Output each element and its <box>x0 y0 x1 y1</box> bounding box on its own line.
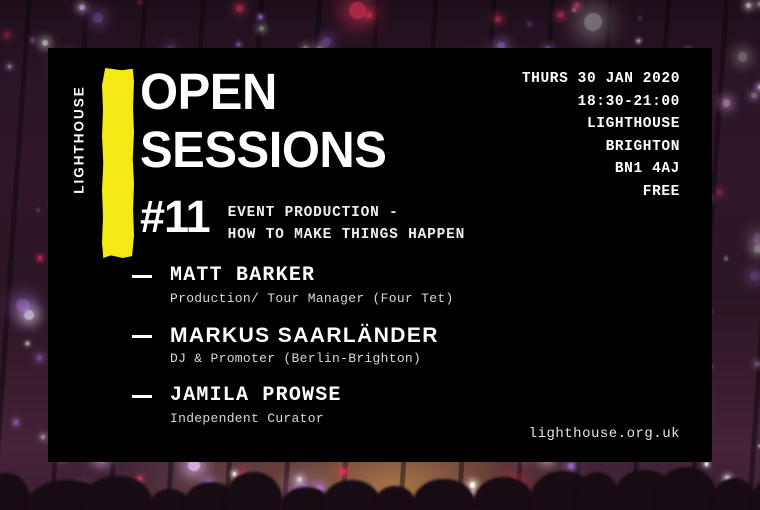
dash-bullet-icon <box>132 395 152 398</box>
speaker-role: Independent Curator <box>170 409 454 428</box>
viral-series-label: VIRAL <box>53 74 76 264</box>
speaker-role: Production/ Tour Manager (Four Tet) <box>170 289 454 308</box>
website-url[interactable]: lighthouse.org.uk <box>529 426 680 442</box>
headline-line-2: SESSIONS <box>140 121 386 179</box>
event-detail-line-2: 18:30-21:00 <box>522 91 680 114</box>
event-details: THURS 30 JAN 202018:30-21:00LIGHTHOUSEBR… <box>522 68 680 203</box>
headline-line-1: OPEN <box>140 63 386 121</box>
speaker-name: MATT BARKER <box>170 264 454 288</box>
issue-subject: EVENT PRODUCTION - HOW TO MAKE THINGS HA… <box>228 194 466 246</box>
poster-panel: LIGHTHOUSE VIRAL OPEN SESSIONS #11 EVENT… <box>48 48 712 462</box>
event-detail-line-3: LIGHTHOUSE <box>522 113 680 136</box>
event-detail-line-6: FREE <box>522 181 680 204</box>
issue-subject-line-2: HOW TO MAKE THINGS HAPPEN <box>228 224 466 246</box>
headline: OPEN SESSIONS <box>140 63 386 179</box>
poster-image: LIGHTHOUSE VIRAL OPEN SESSIONS #11 EVENT… <box>0 0 760 510</box>
event-detail-line-1: THURS 30 JAN 2020 <box>522 68 680 91</box>
event-detail-line-4: BRIGHTON <box>522 136 680 159</box>
speaker-name: MARKUS SAARLÄNDER <box>170 324 454 348</box>
speaker-item: MATT BARKERProduction/ Tour Manager (Fou… <box>132 264 454 308</box>
speaker-list: MATT BARKERProduction/ Tour Manager (Fou… <box>132 264 454 428</box>
viral-highlight-block <box>102 68 134 258</box>
issue-row: #11 EVENT PRODUCTION - HOW TO MAKE THING… <box>140 194 465 246</box>
speaker-item: MARKUS SAARLÄNDERDJ & Promoter (Berlin-B… <box>132 324 454 368</box>
issue-number: #11 <box>140 194 210 240</box>
event-detail-line-5: BN1 4AJ <box>522 158 680 181</box>
speaker-role: DJ & Promoter (Berlin-Brighton) <box>170 349 454 368</box>
speaker-item: JAMILA PROWSEIndependent Curator <box>132 384 454 428</box>
dash-bullet-icon <box>132 275 152 278</box>
issue-subject-line-1: EVENT PRODUCTION - <box>228 202 466 224</box>
speaker-name: JAMILA PROWSE <box>170 384 454 408</box>
dash-bullet-icon <box>132 335 152 338</box>
